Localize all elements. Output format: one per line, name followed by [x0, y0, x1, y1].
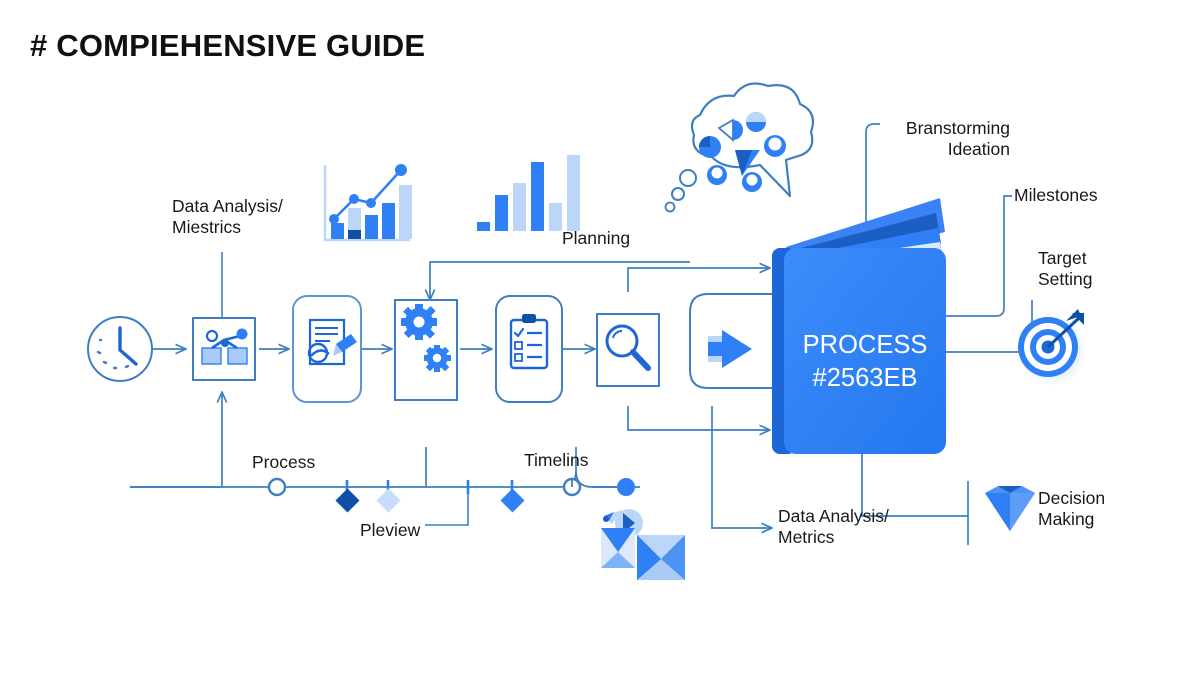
label-timelins: Timelins: [524, 450, 589, 471]
book-line2: #2563EB: [813, 364, 918, 392]
magnifier-icon: [597, 314, 659, 386]
label-target-setting: Target Setting: [1038, 248, 1148, 290]
clock-icon: [88, 317, 152, 381]
timeline-track: [269, 478, 1060, 513]
gem-diamond-icon: [985, 486, 1035, 531]
label-data-analysis-right: Data Analysis/ Metrics: [778, 506, 918, 548]
timeline-diamond-mid: [500, 488, 524, 512]
book-line1: PROCESS: [803, 331, 928, 359]
target-dartboard-icon: [1017, 309, 1087, 386]
timeline-marker-filled: [617, 478, 635, 496]
timeline-marker-open: [269, 479, 285, 495]
label-planning: Planning: [562, 228, 630, 249]
label-pleview: Pleview: [360, 520, 420, 541]
label-data-analysis-left: Data Analysis/ Miestrics: [172, 196, 312, 238]
timeline-diamond-light: [376, 488, 400, 512]
label-milestones: Milestones: [1014, 185, 1098, 206]
clipboard-checklist-icon: [496, 296, 562, 402]
bar-chart-icon: [477, 155, 580, 231]
document-edit-icon: [293, 296, 361, 402]
label-process: Process: [252, 452, 315, 473]
network-nodes-icon: [193, 318, 255, 380]
bar-line-chart-icon: [325, 164, 412, 240]
label-decision-making: Decision Making: [1038, 488, 1158, 530]
geometric-shapes-icon: [601, 509, 685, 580]
timeline-diamond-dark: [335, 488, 359, 512]
process-book: PROCESS #2563EB: [772, 198, 946, 454]
thought-cloud-icon: [666, 84, 813, 212]
diagram-scene: PROCESS #2563EB: [0, 0, 1200, 675]
slide-canvas: # COMPIEHENSIVE GUIDE: [0, 0, 1200, 675]
gears-icon: [395, 300, 457, 400]
label-brainstorming: Branstorming Ideation: [848, 118, 1010, 160]
